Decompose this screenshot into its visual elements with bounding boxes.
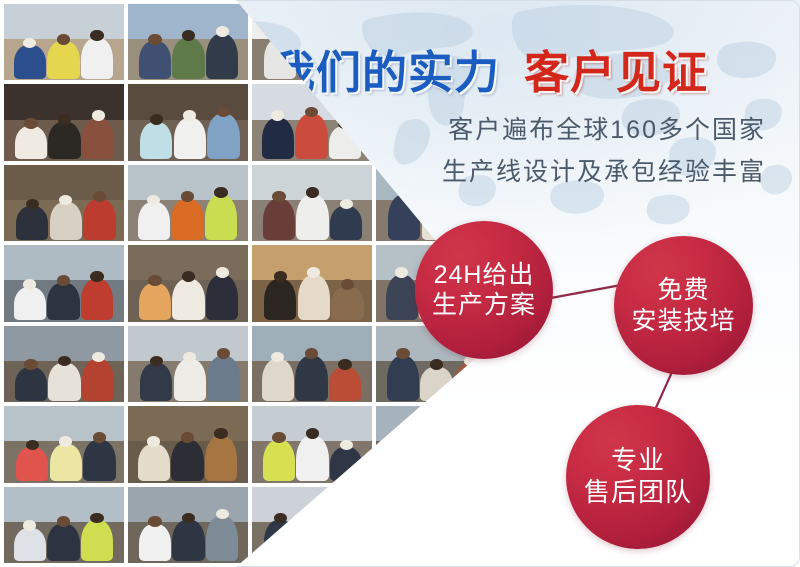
photo-person-head bbox=[340, 199, 353, 210]
bubble-after-sales[interactable]: 专业 售后团队 bbox=[566, 405, 710, 549]
photo-person bbox=[295, 356, 327, 401]
bubble-free-training[interactable]: 免费 安装技培 bbox=[614, 236, 753, 375]
collage-photo bbox=[128, 4, 248, 80]
banner-stage: 我们的实力 客户见证 客户遍布全球160多个国家 生产线设计及承包经验丰富 24… bbox=[0, 0, 800, 567]
photo-person-head bbox=[90, 30, 103, 41]
photo-person bbox=[82, 359, 114, 400]
photo-person-head bbox=[182, 271, 195, 282]
photo-person-head bbox=[181, 191, 194, 202]
photo-person bbox=[47, 524, 79, 561]
photo-person bbox=[295, 114, 327, 159]
bubble-24h-plan-line2: 生产方案 bbox=[432, 290, 536, 321]
photo-person bbox=[81, 38, 113, 79]
photo-person bbox=[262, 359, 294, 400]
photo-person bbox=[296, 195, 328, 240]
collage-photo bbox=[252, 245, 372, 321]
photo-person bbox=[47, 41, 79, 78]
photo-person-head bbox=[274, 513, 287, 524]
collage-photo bbox=[4, 84, 124, 160]
photo-person bbox=[14, 528, 46, 562]
photo-person bbox=[262, 118, 294, 159]
bubble-24h-plan-line1: 24H给出 bbox=[434, 260, 535, 291]
photo-person bbox=[172, 520, 204, 561]
photo-person bbox=[172, 38, 204, 79]
photo-person-head bbox=[90, 513, 103, 524]
photo-person-head bbox=[306, 187, 319, 198]
photo-person bbox=[15, 126, 47, 160]
photo-person-head bbox=[58, 114, 71, 125]
photo-person bbox=[83, 440, 115, 481]
photo-person bbox=[172, 279, 204, 320]
photo-person-head bbox=[341, 279, 354, 290]
photo-person-head bbox=[90, 271, 103, 282]
photo-person-head bbox=[214, 187, 227, 198]
photo-person bbox=[81, 279, 113, 320]
photo-person-head bbox=[59, 436, 72, 447]
photo-person-head bbox=[274, 271, 287, 282]
bubble-24h-plan[interactable]: 24H给出 生产方案 bbox=[415, 221, 553, 359]
photo-person-head bbox=[396, 348, 409, 359]
photo-person bbox=[331, 287, 363, 321]
bubble-after-sales-line1: 专业 bbox=[611, 445, 665, 477]
photo-person-head bbox=[216, 267, 229, 278]
photo-person-head bbox=[272, 432, 285, 443]
collage-photo bbox=[128, 326, 248, 402]
photo-person bbox=[205, 436, 237, 481]
photo-person bbox=[207, 356, 239, 401]
photo-person-head bbox=[92, 110, 105, 121]
photo-person-head bbox=[305, 348, 318, 359]
photo-person bbox=[263, 440, 295, 481]
photo-person-head bbox=[216, 509, 229, 520]
collage-photo bbox=[4, 487, 124, 563]
photo-person-head bbox=[181, 432, 194, 443]
photo-person bbox=[140, 363, 172, 400]
photo-person-head bbox=[57, 275, 70, 286]
photo-person-head bbox=[23, 279, 36, 290]
photo-person-head bbox=[217, 348, 230, 359]
photo-person bbox=[47, 283, 79, 320]
photo-person bbox=[174, 118, 206, 159]
photo-person bbox=[140, 122, 172, 159]
photo-person-head bbox=[214, 428, 227, 439]
bubble-free-training-line2: 安装技培 bbox=[631, 306, 735, 337]
collage-photo bbox=[128, 487, 248, 563]
photo-person bbox=[16, 206, 48, 240]
photo-person-head bbox=[216, 26, 229, 37]
photo-person bbox=[139, 524, 171, 561]
photo-person-head bbox=[93, 432, 106, 443]
photo-person bbox=[16, 447, 48, 481]
collage-photo bbox=[128, 165, 248, 241]
photo-person bbox=[206, 516, 238, 561]
photo-person bbox=[386, 275, 418, 320]
photo-person bbox=[205, 195, 237, 240]
photo-person-head bbox=[148, 516, 161, 527]
photo-person-head bbox=[272, 191, 285, 202]
photo-person bbox=[139, 283, 171, 320]
collage-photo bbox=[4, 406, 124, 482]
collage-photo bbox=[4, 245, 124, 321]
photo-person-head bbox=[148, 275, 161, 286]
collage-photo bbox=[128, 84, 248, 160]
collage-photo bbox=[252, 326, 372, 402]
photo-person bbox=[81, 520, 113, 561]
photo-person bbox=[15, 367, 47, 401]
photo-person-head bbox=[57, 516, 70, 527]
photo-person-head bbox=[147, 436, 160, 447]
photo-person bbox=[48, 363, 80, 400]
photo-person bbox=[206, 275, 238, 320]
photo-person bbox=[138, 202, 170, 239]
photo-person bbox=[14, 45, 46, 79]
photo-person-head bbox=[24, 359, 37, 370]
bubble-after-sales-line2: 售后团队 bbox=[584, 477, 692, 509]
photo-person bbox=[298, 275, 330, 320]
photo-person-head bbox=[338, 359, 351, 370]
photo-person bbox=[50, 444, 82, 481]
collage-photo bbox=[4, 4, 124, 80]
photo-person bbox=[329, 367, 361, 401]
headline-secondary: 客户见证 bbox=[524, 36, 708, 101]
photo-person-head bbox=[24, 118, 37, 129]
collage-photo bbox=[128, 406, 248, 482]
photo-person bbox=[14, 287, 46, 321]
photo-person-head bbox=[148, 34, 161, 45]
photo-person bbox=[83, 199, 115, 240]
page-title: 我们的实力 客户见证 bbox=[270, 36, 708, 101]
photo-person-head bbox=[150, 356, 163, 367]
subtitle-line-1: 客户遍布全球160多个国家 bbox=[448, 110, 766, 146]
collage-photo bbox=[128, 245, 248, 321]
photo-person bbox=[82, 118, 114, 159]
photo-person-head bbox=[182, 30, 195, 41]
photo-person bbox=[139, 41, 171, 78]
collage-photo bbox=[252, 165, 372, 241]
photo-person bbox=[48, 122, 80, 159]
collage-photo bbox=[4, 326, 124, 402]
photo-person-head bbox=[57, 34, 70, 45]
photo-person-head bbox=[93, 191, 106, 202]
photo-person bbox=[171, 440, 203, 481]
photo-person bbox=[296, 436, 328, 481]
bubble-free-training-line1: 免费 bbox=[657, 275, 709, 306]
photo-person bbox=[171, 199, 203, 240]
photo-person bbox=[206, 34, 238, 79]
photo-person bbox=[330, 206, 362, 240]
photo-person-head bbox=[26, 199, 39, 210]
photo-person bbox=[264, 279, 296, 320]
photo-person-head bbox=[150, 114, 163, 125]
photo-person bbox=[174, 359, 206, 400]
photo-person bbox=[50, 202, 82, 239]
photo-person bbox=[207, 114, 239, 159]
photo-person-head bbox=[92, 352, 105, 363]
photo-person bbox=[263, 199, 295, 240]
collage-photo bbox=[4, 165, 124, 241]
subtitle-line-2: 生产线设计及承包经验丰富 bbox=[442, 152, 766, 188]
photo-person bbox=[138, 444, 170, 481]
photo-person bbox=[387, 356, 419, 401]
